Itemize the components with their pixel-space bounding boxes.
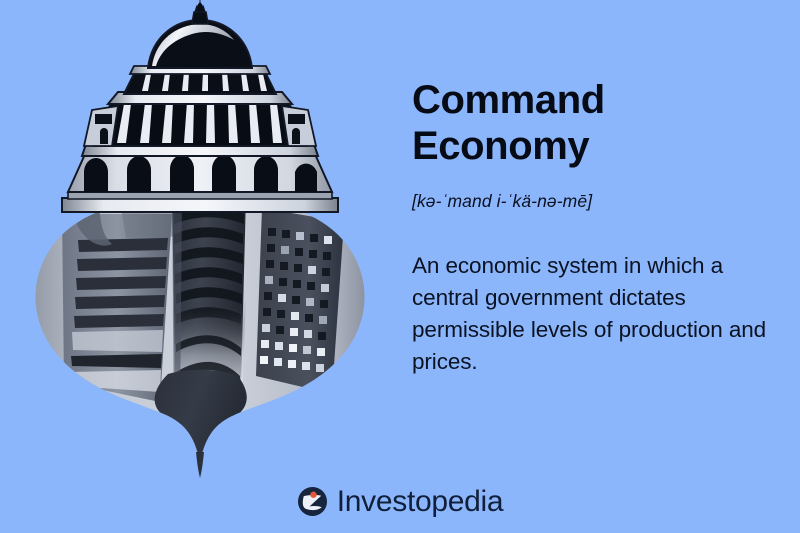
capitol-city-illustration: [0, 0, 400, 490]
brand-wordmark: Investopedia: [337, 487, 504, 517]
lantern: [192, 12, 208, 24]
pronunciation: [kə-ˈmand i-ˈkä-nə-mē]: [412, 191, 772, 212]
wing-left: [84, 106, 118, 146]
definition-text-column: Command Economy [kə-ˈmand i-ˈkä-nə-mē] A…: [412, 78, 772, 378]
droplet-tip: [196, 452, 204, 478]
brand-footer: Investopedia: [0, 486, 800, 517]
capitol-building: [48, 0, 352, 258]
plinth: [62, 198, 338, 212]
term-title: Command Economy: [412, 78, 772, 169]
wing-right: [282, 106, 316, 146]
investopedia-logo-icon: [297, 486, 328, 517]
definition-card: Command Economy [kə-ˈmand i-ˈkä-nə-mē] A…: [0, 0, 800, 533]
droplet-shadow: [155, 370, 247, 466]
definition-text: An economic system in which a central go…: [412, 250, 772, 378]
